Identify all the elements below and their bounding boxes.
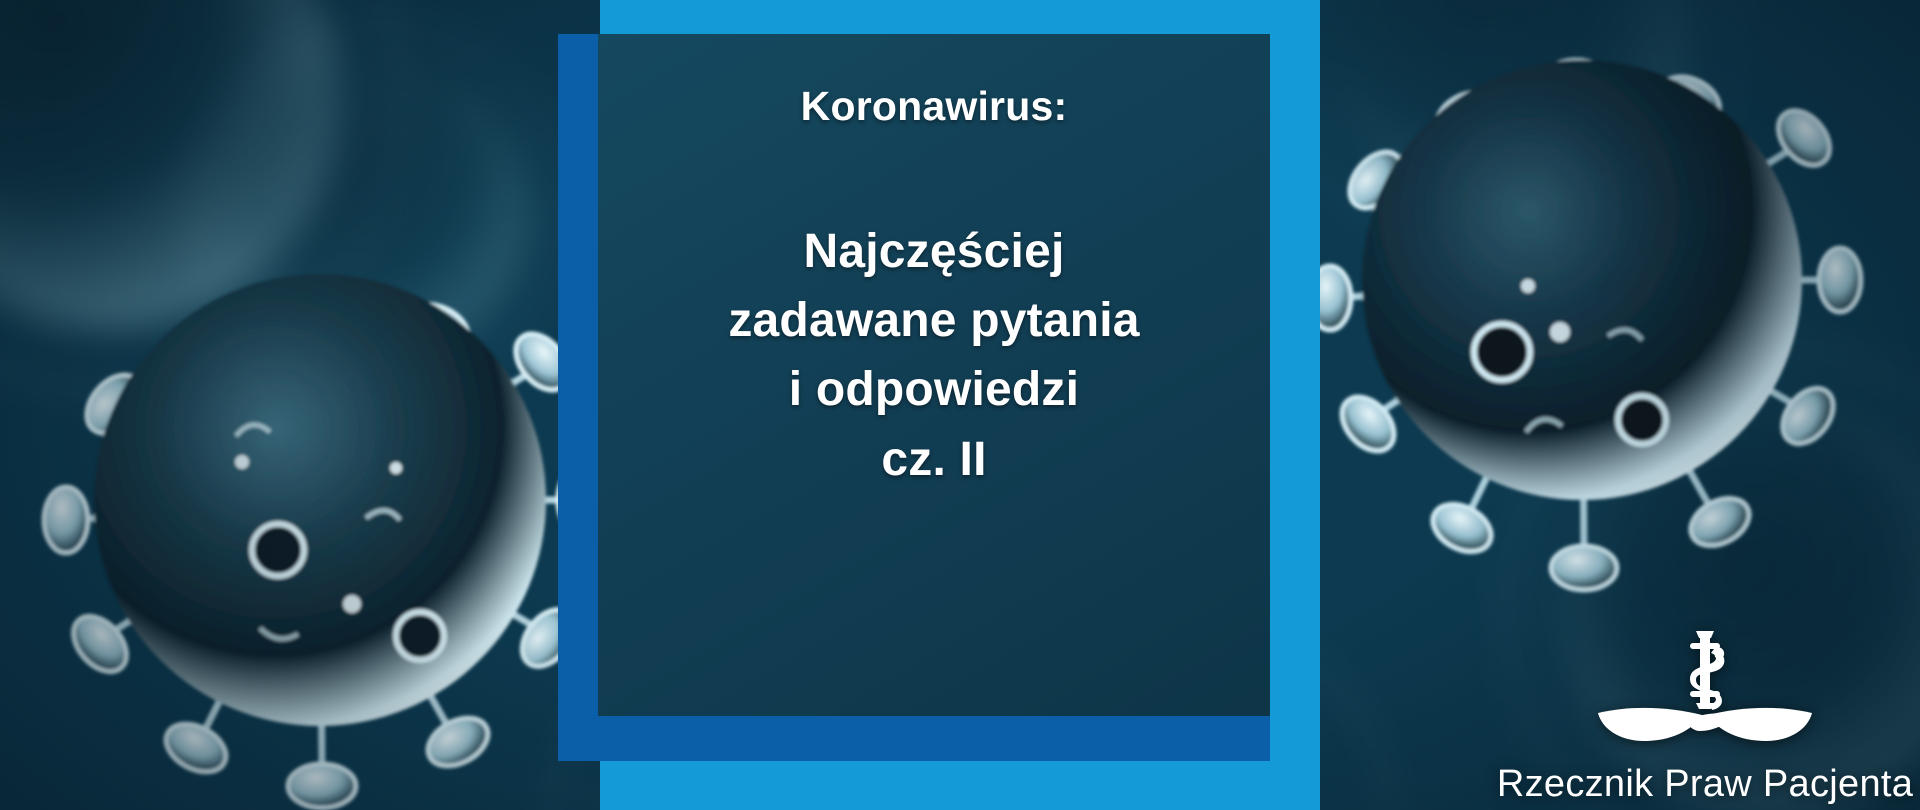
poster-subtitle-line-3: i odpowiedzi bbox=[789, 355, 1079, 424]
caduceus-over-hands-icon bbox=[1590, 629, 1820, 761]
poster-subtitle-line-1: Najczęściej bbox=[803, 217, 1064, 286]
poster-subtitle-line-4: cz. II bbox=[881, 425, 986, 494]
poster-subtitle-line-2: zadawane pytania bbox=[728, 286, 1139, 355]
poster-canvas: Koronawirus: Najczęściej zadawane pytani… bbox=[0, 0, 1920, 810]
poster-title: Koronawirus: bbox=[801, 82, 1068, 131]
headline-text-stack: Koronawirus: Najczęściej zadawane pytani… bbox=[598, 34, 1270, 716]
organization-logo: Rzecznik Praw Pacjenta bbox=[1516, 629, 1894, 806]
organization-name: Rzecznik Praw Pacjenta bbox=[1497, 763, 1913, 806]
